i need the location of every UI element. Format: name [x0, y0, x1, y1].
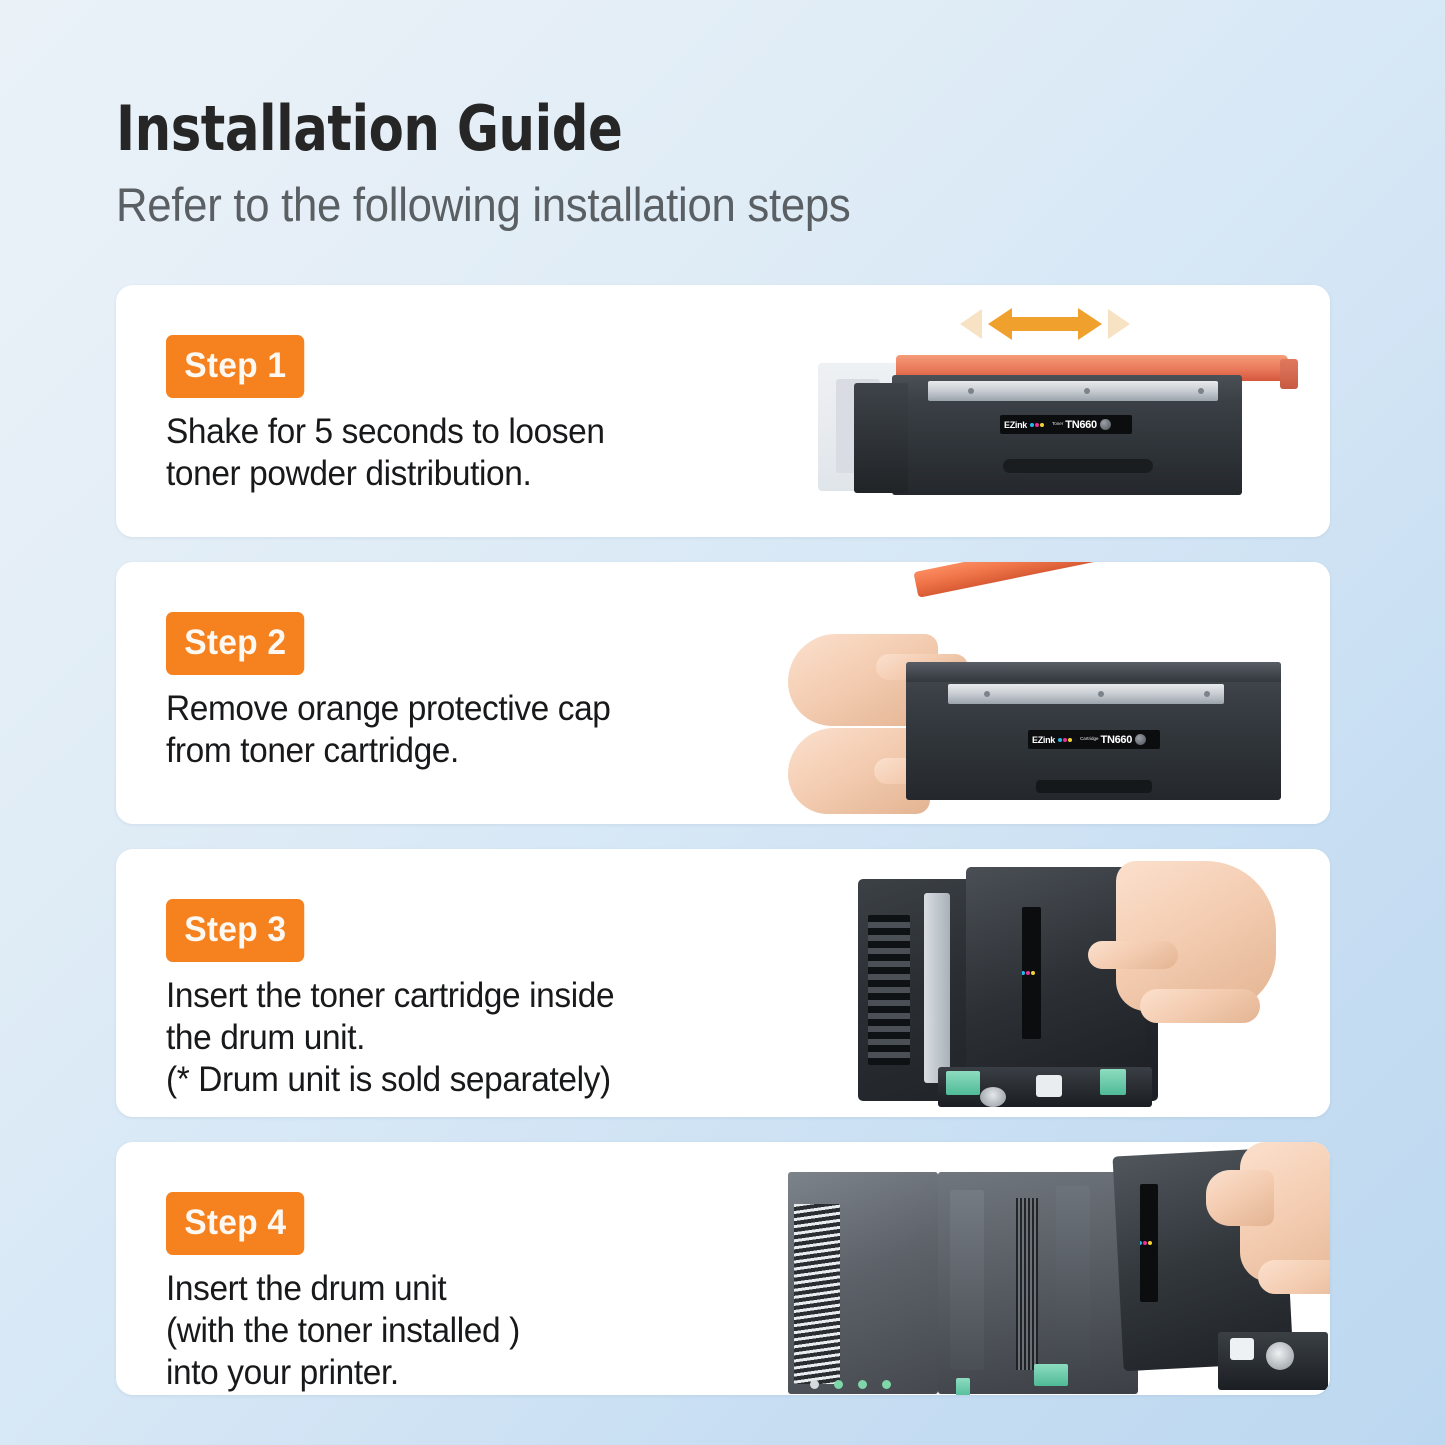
step-1-figure: EZink Toner TN660 [788, 285, 1330, 537]
steps-list: Step 1 Shake for 5 seconds to loosen ton… [116, 285, 1330, 1420]
drum-gear [1266, 1342, 1294, 1370]
teal-slider-right [1100, 1069, 1126, 1095]
finger-lower [1258, 1260, 1330, 1294]
teal-slider-left [946, 1071, 980, 1095]
strip-screw-1 [968, 388, 974, 394]
step-card-3: Step 3 Insert the toner cartridge inside… [116, 849, 1330, 1117]
step-4-badge: Step 4 [166, 1192, 304, 1255]
strip-screw-1 [984, 691, 990, 697]
cmyk-dots-icon [1030, 423, 1049, 427]
strip-screw-3 [1198, 388, 1204, 394]
label-line-1: Toner [1052, 422, 1063, 427]
finger-lower [1140, 989, 1260, 1023]
product-label: EZink Toner TN660 [1000, 415, 1132, 434]
strip-screw-3 [1204, 691, 1210, 697]
step-1-description: Shake for 5 seconds to loosen toner powd… [166, 411, 760, 495]
product-label: EZink Cartridge TN660 [1028, 730, 1160, 749]
model-number: TN660 [1040, 959, 1041, 988]
strip-screw-2 [1084, 388, 1090, 394]
strip-screw-2 [1098, 691, 1104, 697]
step-1-badge: Step 1 [166, 335, 304, 398]
step-3-badge: Step 3 [166, 899, 304, 962]
white-gear-cover [1036, 1075, 1062, 1097]
bay-rail-right [1056, 1186, 1090, 1368]
guide-header: Installation Guide Refer to the followin… [116, 96, 1336, 231]
cmyk-dots-icon [1058, 738, 1077, 742]
cmyk-dots-icon [1022, 971, 1040, 975]
white-gear-cover [1230, 1338, 1254, 1360]
thumb [1206, 1170, 1274, 1226]
drum-roller [924, 893, 950, 1083]
step-2-description: Remove orange protective cap from toner … [166, 688, 760, 772]
teal-lock-tab-small [956, 1378, 970, 1395]
product-label: EZink TN660 [1140, 1184, 1158, 1302]
authenticity-seal-icon [1100, 419, 1111, 430]
printer-led-3 [858, 1380, 867, 1389]
cartridge-end-cap-left [854, 383, 908, 493]
bay-rail-left [950, 1190, 984, 1370]
step-2-badge: Step 2 [166, 612, 304, 675]
step-card-1: Step 1 Shake for 5 seconds to loosen ton… [116, 285, 1330, 537]
thumb [1088, 941, 1178, 969]
transfer-mesh [1016, 1198, 1038, 1370]
printer-led-2 [834, 1380, 843, 1389]
model-number: TN660 [1157, 1230, 1158, 1256]
model-number: TN660 [1065, 419, 1097, 431]
cartridge-handle-groove [1003, 459, 1153, 473]
step-2-text-block: Step 2 Remove orange protective cap from… [116, 562, 788, 824]
shake-double-arrow-icon [960, 303, 1130, 345]
page-subtitle: Refer to the following installation step… [116, 179, 1251, 231]
step-card-2: Step 2 Remove orange protective cap from… [116, 562, 1330, 824]
brand-name: EZink [1000, 420, 1027, 430]
model-number: TN660 [1101, 734, 1133, 746]
step-4-description: Insert the drum unit (with the toner ins… [166, 1268, 760, 1394]
label-line-2: Cartridge [1080, 737, 1099, 742]
step-3-text-block: Step 3 Insert the toner cartridge inside… [116, 849, 788, 1117]
printer-led-4 [882, 1380, 891, 1389]
printer-led-1 [810, 1380, 819, 1389]
step-card-4: Step 4 Insert the drum unit (with the to… [116, 1142, 1330, 1395]
step-3-figure: EZink TN660 [788, 849, 1330, 1117]
page-title: Installation Guide [116, 96, 1238, 161]
authenticity-seal-icon [1135, 734, 1146, 745]
step-4-text-block: Step 4 Insert the drum unit (with the to… [116, 1142, 788, 1395]
printer-vent-grille [794, 1204, 840, 1384]
drum-vent-slots [868, 915, 910, 1065]
step-4-figure: EZink TN660 [788, 1142, 1330, 1395]
orange-protective-cap-removed [913, 562, 1263, 598]
brand-name: EZink [1028, 735, 1055, 745]
step-1-text-block: Step 1 Shake for 5 seconds to loosen ton… [116, 285, 788, 537]
drum-gear [980, 1087, 1006, 1107]
product-label: EZink TN660 [1022, 907, 1041, 1039]
cmyk-dots-icon [1140, 1241, 1157, 1245]
teal-lock-tab [1034, 1364, 1068, 1386]
step-2-figure: EZink Cartridge TN660 [788, 562, 1330, 824]
toner-cartridge-illustration: EZink Toner TN660 [818, 355, 1288, 497]
step-3-description: Insert the toner cartridge inside the dr… [166, 975, 760, 1101]
toner-cartridge-illustration: EZink Cartridge TN660 [906, 662, 1281, 802]
cartridge-handle-groove [1036, 780, 1152, 793]
cartridge-top-rail [906, 662, 1281, 682]
